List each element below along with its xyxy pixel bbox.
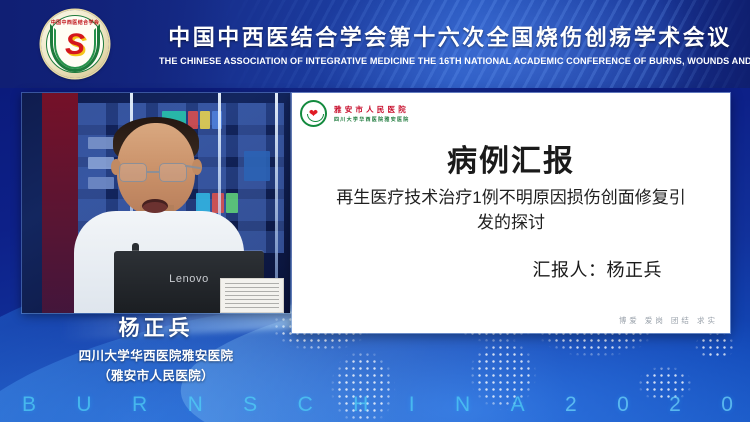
slide-subtitle: 再生医疗技术治疗1例不明原因损伤创面修复引发的探讨 — [332, 186, 690, 235]
eyeglasses-lens-left — [119, 163, 147, 182]
monitor-chip — [196, 193, 210, 213]
speaker-mouth — [142, 199, 168, 213]
monitor-chip — [88, 177, 114, 189]
conference-title-chinese: 中国中西医结合学会第十六次全国烧伤创疡学术会议 — [0, 20, 750, 52]
speaker-video-feed[interactable]: Lenovo — [22, 93, 290, 313]
printed-paper — [220, 278, 284, 313]
eyeglasses-lens-right — [159, 163, 187, 182]
monitor-chip — [244, 151, 270, 181]
speaker-name-plate: 杨正兵 四川大学华西医院雅安医院 （雅安市人民医院） — [22, 318, 290, 386]
conference-header-banner: 中国中西医结合学会 S 中国中西医结合学会第十六次全国烧伤创疡学术会议 THE … — [0, 0, 750, 88]
hospital-name-block: 雅安市人民医院 四川大学华西医院雅安医院 — [334, 104, 410, 123]
hospital-name-chinese: 雅安市人民医院 — [334, 104, 410, 115]
eyeglasses-bridge — [147, 171, 159, 173]
monitor-chip — [226, 193, 238, 213]
leaf-icon — [307, 114, 324, 122]
livestream-viewport: 中国中西医结合学会 S 中国中西医结合学会第十六次全国烧伤创疡学术会议 THE … — [0, 0, 750, 422]
monitor-chip — [200, 111, 210, 129]
slide-footer-motto: 博爱 爱岗 团结 求实 — [619, 315, 718, 326]
paper-text-lines — [225, 283, 279, 308]
slide-presenter-line: 汇报人：杨正兵 — [292, 256, 730, 282]
monitor-chip — [88, 137, 114, 149]
slide-title: 病例汇报 — [292, 136, 730, 180]
studio-red-panel — [42, 93, 78, 313]
speaker-organization-primary: 四川大学华西医院雅安医院 — [22, 345, 290, 364]
hospital-name-subline: 四川大学华西医院雅安医院 — [334, 116, 410, 123]
speaker-organization-secondary: （雅安市人民医院） — [22, 365, 290, 384]
slide-hospital-branding: ❤ 雅安市人民医院 四川大学华西医院雅安医院 — [300, 100, 410, 127]
hospital-emblem-icon: ❤ — [300, 100, 327, 127]
conference-title-english: THE CHINESE ASSOCIATION OF INTEGRATIVE M… — [15, 56, 735, 67]
speaker-name: 杨正兵 — [22, 318, 290, 340]
presentation-slide[interactable]: ❤ 雅安市人民医院 四川大学华西医院雅安医院 病例汇报 再生医疗技术治疗1例不明… — [292, 93, 730, 333]
